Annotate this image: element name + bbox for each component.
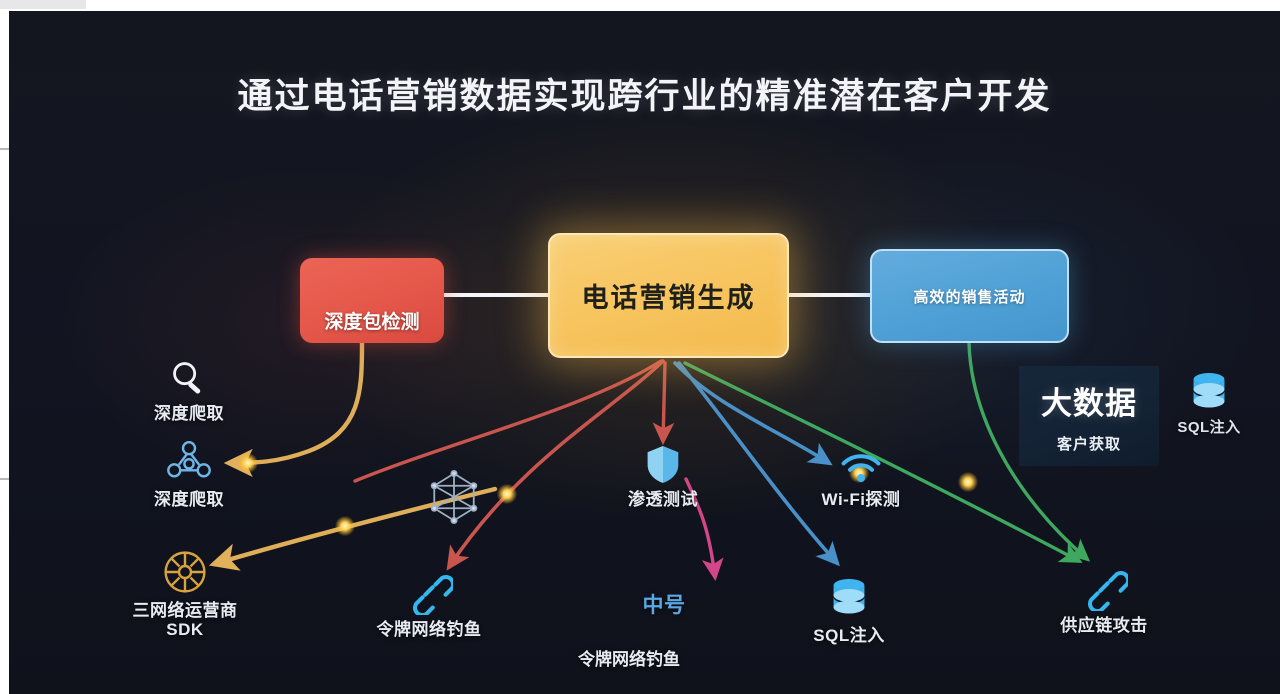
leaf-token-phishing-right[interactable]: 令牌网络钓鱼 (529, 645, 729, 670)
leaf-caption: 深度爬取 (154, 490, 224, 509)
leaf-caption: 令牌网络钓鱼 (377, 620, 482, 639)
database-icon (829, 577, 869, 621)
top-left-gray-block (0, 0, 86, 9)
node-telemarketing-generation[interactable]: 电话营销生成 (548, 233, 789, 358)
arrow-spark (335, 516, 355, 536)
leaf-sql-injection-right[interactable]: SQL注入 (1124, 371, 1280, 437)
left-edge-tick (0, 478, 9, 480)
chain-link-icon (405, 567, 453, 615)
leaf-sql-injection-center[interactable]: SQL注入 (764, 577, 934, 645)
top-edge-strip (0, 0, 1280, 11)
leaf-caption: 三网络运营商 SDK (133, 601, 238, 639)
node-label: 高效的销售活动 (872, 286, 1067, 307)
left-edge-strip (0, 0, 9, 694)
leaf-caption: Wi-Fi探测 (822, 490, 901, 509)
leaf-token-phishing-left[interactable]: 令牌网络钓鱼 (344, 567, 514, 639)
leaf-pentest[interactable]: 渗透测试 (578, 443, 748, 509)
bigdata-subtitle: 客户获取 (1057, 433, 1121, 454)
leaf-caption: 令牌网络钓鱼 (578, 650, 680, 669)
arrow-spark (497, 484, 517, 504)
leaf-caption: SQL注入 (1177, 420, 1240, 437)
left-edge-tick (0, 148, 9, 150)
leaf-caption: 渗透测试 (628, 490, 698, 509)
chain-link-icon (1080, 563, 1128, 611)
magnifier-icon (168, 357, 210, 399)
leaf-supply-chain-attack[interactable]: 供应链攻击 (1019, 563, 1189, 635)
node-label: 深度包检测 (300, 307, 444, 334)
polygon-graph-icon (423, 466, 485, 528)
node-deep-packet-inspection[interactable]: 深度包检测 (300, 258, 444, 343)
leaf-deep-crawl-search[interactable]: 深度爬取 (104, 357, 274, 423)
node-efficient-sales-activity[interactable]: 高效的销售活动 (870, 249, 1069, 343)
screenshot-root: 通过电话营销数据实现跨行业的精准潜在客户开发 (0, 0, 1280, 694)
leaf-caption: 供应链攻击 (1060, 616, 1148, 635)
bigdata-title: 大数据 (1041, 378, 1137, 423)
leaf-caption: 中号 (643, 594, 686, 618)
database-icon (1189, 371, 1229, 415)
sdk-circle-icon (161, 548, 209, 596)
shield-icon (645, 443, 681, 485)
arrow-spark (958, 472, 978, 492)
slide-canvas: 通过电话营销数据实现跨行业的精准潜在客户开发 (9, 11, 1280, 694)
leaf-deep-crawl-network[interactable]: 深度爬取 (104, 439, 274, 509)
network-nodes-icon (165, 439, 213, 485)
leaf-three-carrier-sdk[interactable]: 三网络运营商 SDK (100, 548, 270, 639)
leaf-medium-account[interactable]: 中号 (579, 589, 749, 618)
page-title: 通过电话营销数据实现跨行业的精准潜在客户开发 (9, 68, 1280, 119)
leaf-caption: SQL注入 (813, 626, 884, 645)
node-label: 电话营销生成 (550, 276, 787, 315)
leaf-caption: 深度爬取 (154, 404, 224, 423)
leaf-wifi-probe[interactable]: Wi-Fi探测 (776, 451, 946, 509)
wifi-icon (839, 451, 883, 485)
